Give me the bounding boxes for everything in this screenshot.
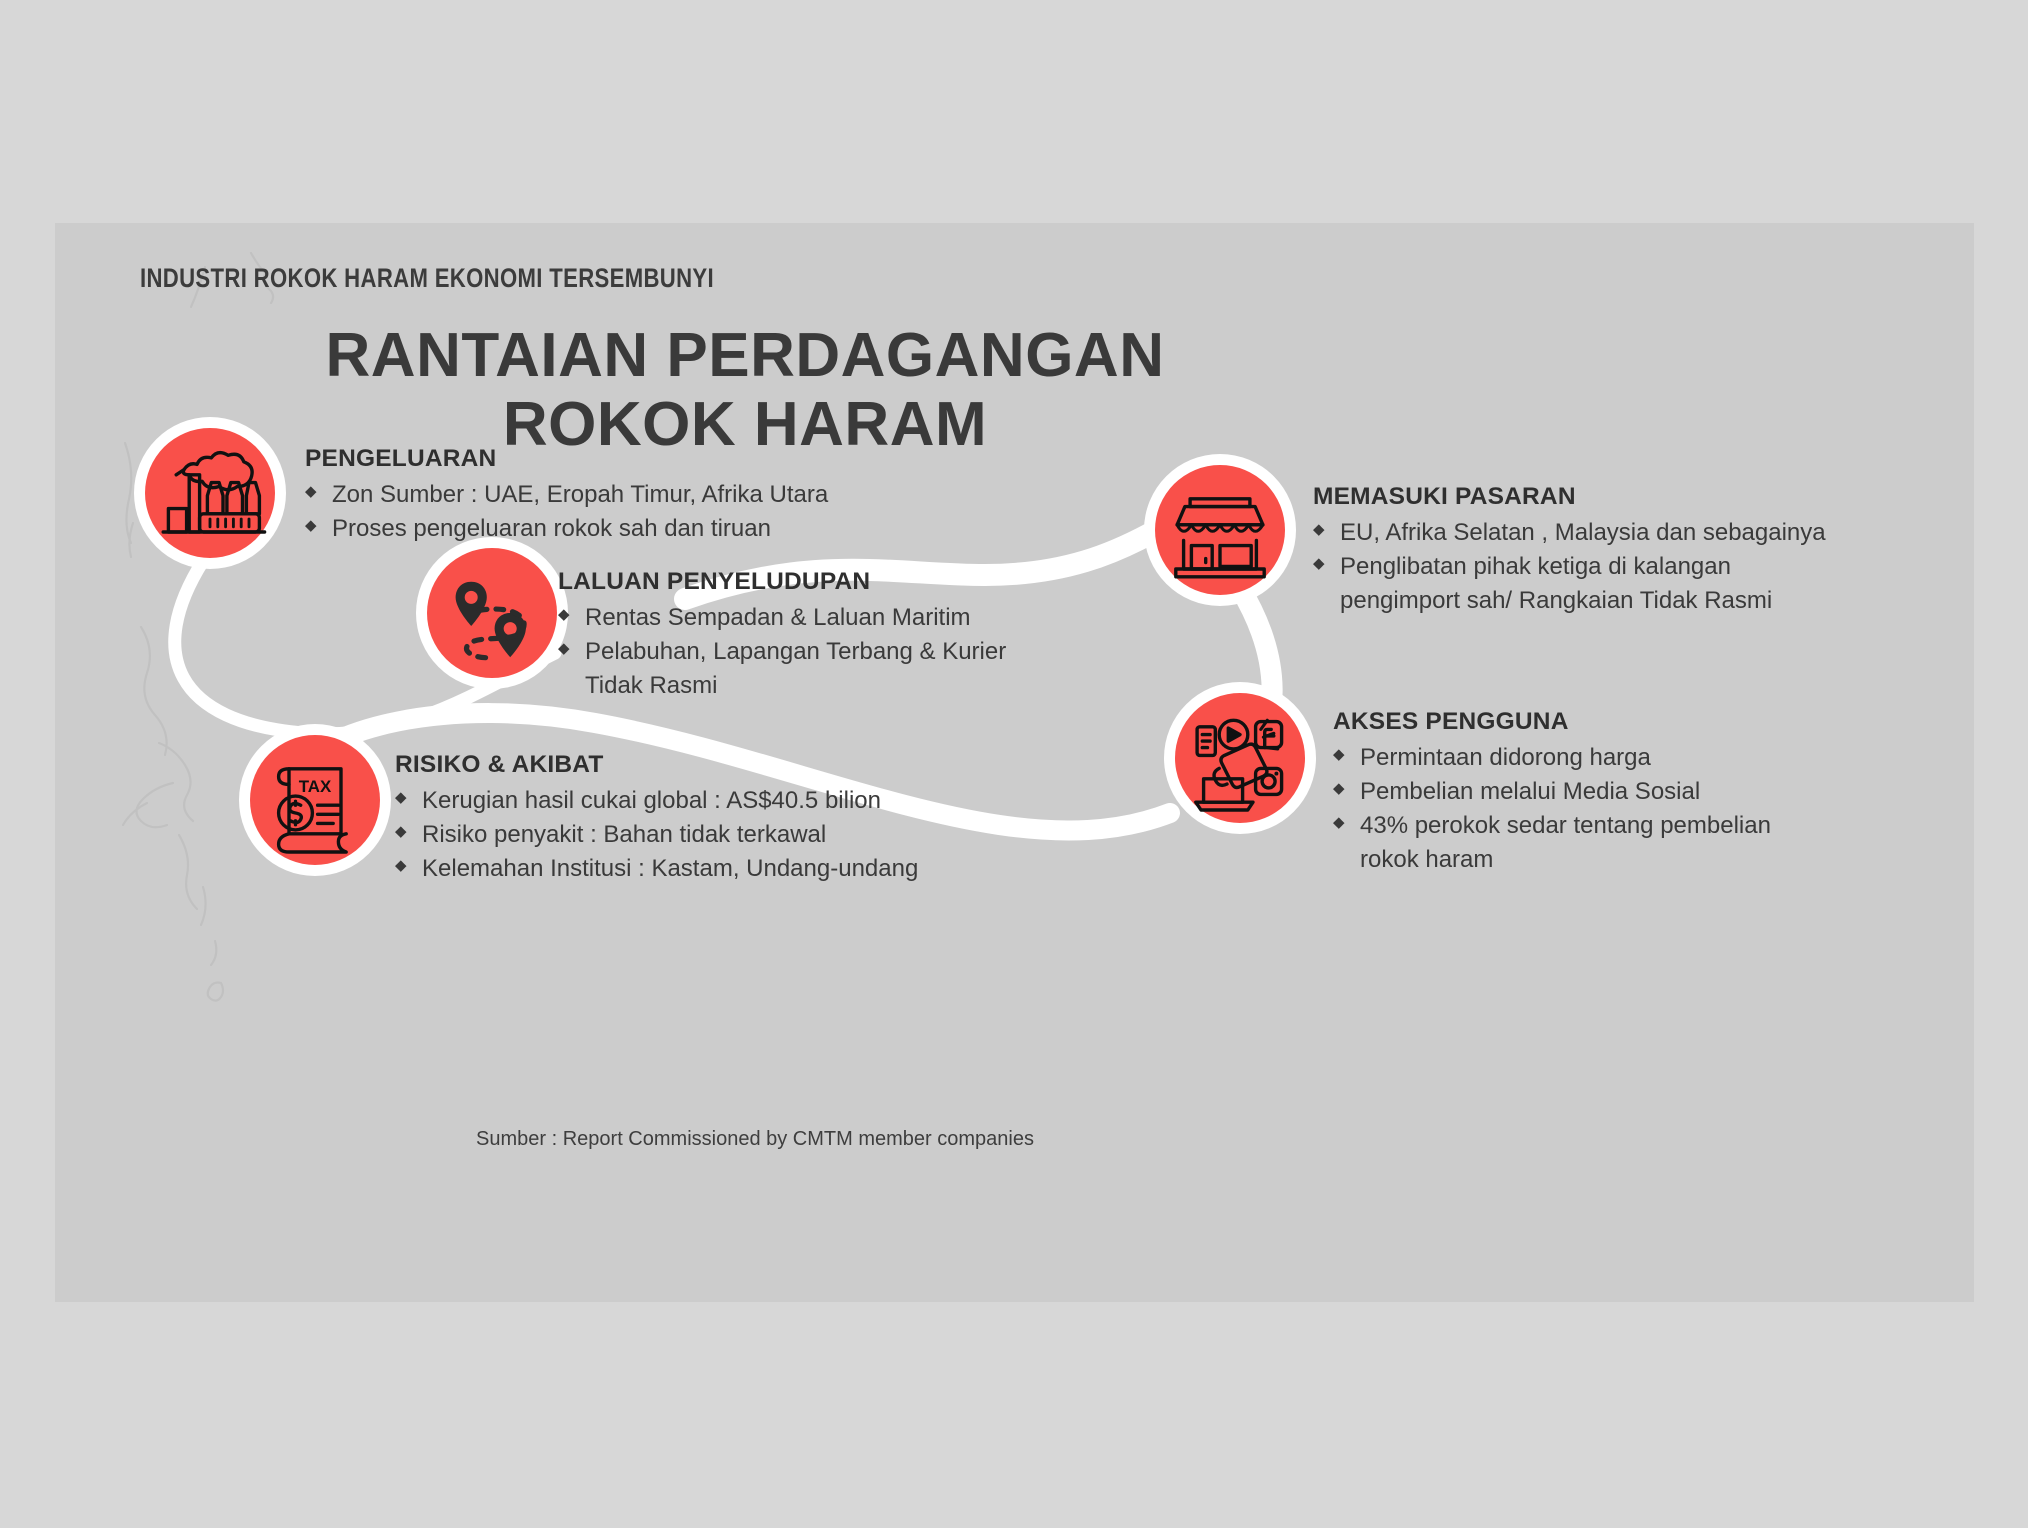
tax-scroll-icon: TAX xyxy=(250,735,380,865)
storefront-icon xyxy=(1155,465,1285,595)
source-note: Sumber : Report Commissioned by CMTM mem… xyxy=(55,1128,1455,1151)
bullet: Kelemahan Institusi : Kastam, Undang-und… xyxy=(395,852,1055,886)
node-bullets: Rentas Sempadan & Laluan Maritim Pelabuh… xyxy=(558,601,1158,703)
node-bullets: Kerugian hasil cukai global : AS$40.5 bi… xyxy=(395,784,1055,886)
bullet: Zon Sumber : UAE, Eropah Timur, Afrika U… xyxy=(305,478,925,512)
node-heading: RISIKO & AKIBAT xyxy=(395,751,1055,779)
eyebrow-label: INDUSTRI ROKOK HARAM EKONOMI TERSEMBUNYI xyxy=(140,263,714,294)
bullet: Pembelian melalui Media Sosial xyxy=(1333,775,1973,809)
node-heading: PENGELUARAN xyxy=(305,445,925,473)
bullet: Permintaan didorong harga xyxy=(1333,741,1973,775)
bullet: Penglibatan pihak ketiga di kalangan pen… xyxy=(1313,550,1953,618)
bullet: Risiko penyakit : Bahan tidak terkawal xyxy=(395,818,1055,852)
bullet: EU, Afrika Selatan , Malaysia dan sebaga… xyxy=(1313,516,1953,550)
title-line-1: RANTAIAN PERDAGANGAN xyxy=(55,321,1435,390)
infographic-slide: INDUSTRI ROKOK HARAM EKONOMI TERSEMBUNYI… xyxy=(55,223,1974,1302)
smuggling-route-icon xyxy=(427,548,557,678)
bullet: Proses pengeluaran rokok sah dan tiruan xyxy=(305,512,925,546)
factory-icon xyxy=(145,428,275,558)
bullet: Rentas Sempadan & Laluan Maritim xyxy=(558,601,1158,635)
node-bullets: Zon Sumber : UAE, Eropah Timur, Afrika U… xyxy=(305,478,925,546)
bullet: 43% perokok sedar tentang pembelian roko… xyxy=(1333,809,1973,877)
bullet: Kerugian hasil cukai global : AS$40.5 bi… xyxy=(395,784,1055,818)
social-megaphone-icon xyxy=(1175,693,1305,823)
node-bullets: Permintaan didorong harga Pembelian mela… xyxy=(1333,741,1973,877)
bullet: Pelabuhan, Lapangan Terbang & Kurier Tid… xyxy=(558,635,1158,703)
node-heading: MEMASUKI PASARAN xyxy=(1313,483,1953,511)
node-bullets: EU, Afrika Selatan , Malaysia dan sebaga… xyxy=(1313,516,1953,618)
node-heading: LALUAN PENYELUDUPAN xyxy=(558,568,1158,596)
svg-text:TAX: TAX xyxy=(299,777,332,796)
node-heading: AKSES PENGGUNA xyxy=(1333,708,1973,736)
